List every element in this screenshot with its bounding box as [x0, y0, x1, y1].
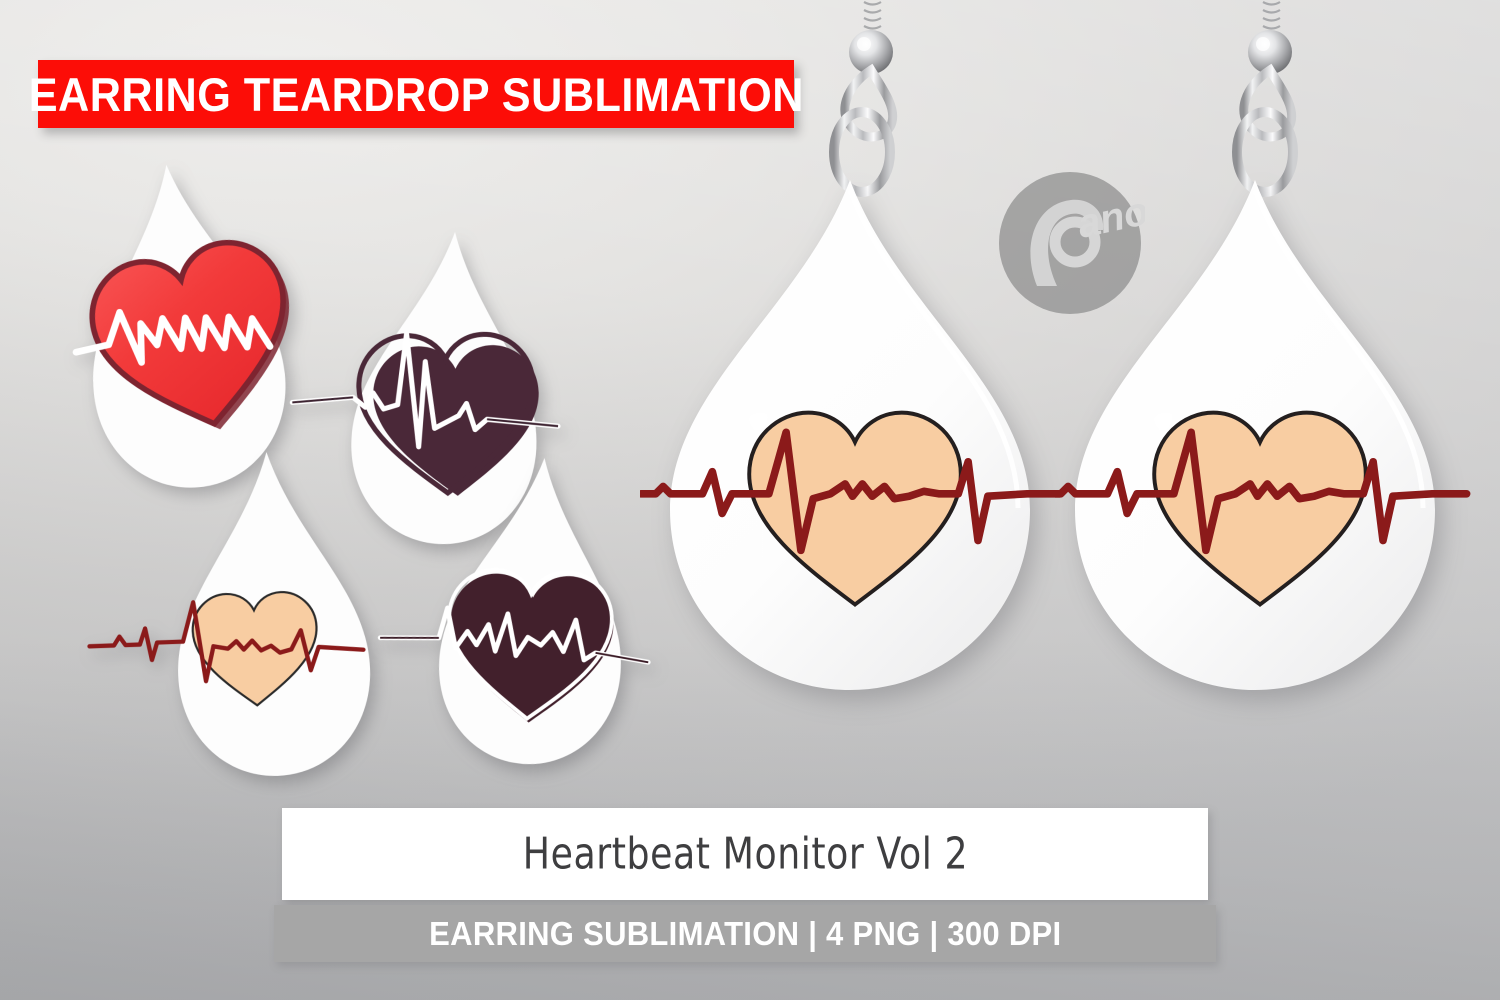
left-earring-svg — [640, 0, 1060, 810]
teardrop-3 — [152, 442, 392, 786]
product-title: Heartbeat Monitor Vol 2 — [522, 829, 967, 879]
watermark-svg: anoy — [995, 168, 1145, 318]
design-card-3-peach-heart[interactable] — [152, 442, 391, 780]
left-teardrop-earring[interactable] — [640, 0, 1060, 810]
product-title-box: Heartbeat Monitor Vol 2 — [282, 808, 1208, 900]
jump-ring-left — [834, 112, 890, 192]
design-card-4-maroon-heart[interactable] — [417, 445, 650, 771]
brand-watermark: anoy — [995, 168, 1145, 318]
product-spec-bar: EARRING SUBLIMATION | 4 PNG | 300 DPI — [274, 905, 1216, 962]
jump-ring-right — [1237, 112, 1293, 192]
teardrop-4 — [417, 445, 651, 777]
right-teardrop-earring[interactable] — [1055, 0, 1475, 810]
right-earring-svg — [1055, 0, 1475, 810]
product-spec-text: EARRING SUBLIMATION | 4 PNG | 300 DPI — [429, 915, 1061, 953]
sublimation-product-mockup: EARRING TEARDROP SUBLIMATION — [0, 0, 1500, 1000]
